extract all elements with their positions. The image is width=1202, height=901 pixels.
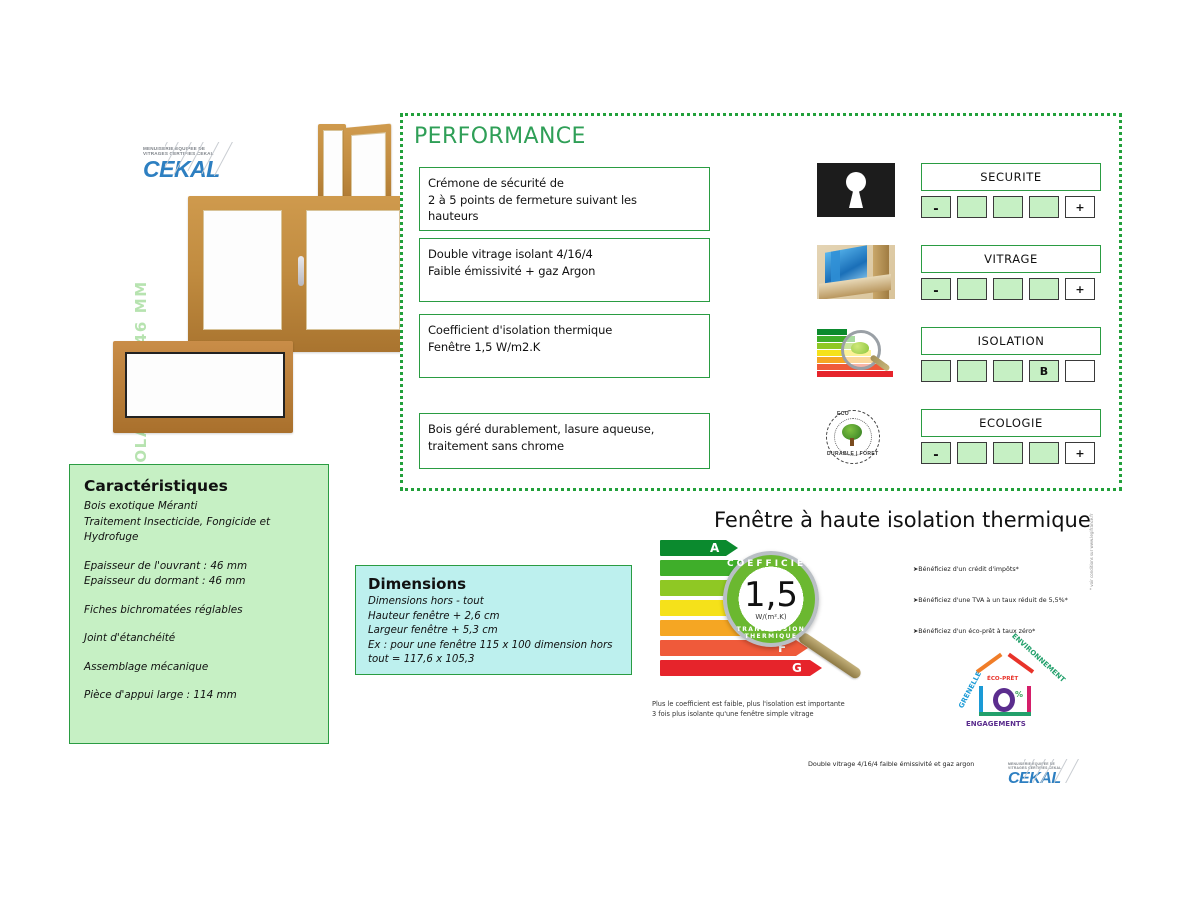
window-photo-transom (113, 341, 293, 433)
rating-cell[interactable] (993, 196, 1023, 218)
energy-bar-label-g: G (792, 661, 802, 675)
coefficient-arc-top: COEFFICIENT (727, 559, 815, 569)
carac-line: Traitement Insecticide, Fongicide et (84, 515, 316, 531)
performance-title: PERFORMANCE (414, 124, 586, 149)
dimensions-line: Hauteur fenêtre + 2,6 cm (368, 610, 621, 625)
glazing-photo-icon (817, 245, 895, 299)
rating-row-isolation: ISOLATION B (817, 327, 895, 381)
carac-line: Joint d'étanchéité (84, 631, 316, 647)
rating-cell[interactable] (957, 278, 987, 300)
benefits-list: ➤Bénéficiez d'un crédit d'impôts* ➤Bénéf… (913, 566, 1098, 659)
grenelle-environnement-logo: ÉCO-PRÊT % GRENELLE ENVIRONNEMENT ENGAGE… (946, 652, 1066, 738)
rating-cell-plus[interactable]: + (1065, 196, 1095, 218)
rating-cell-grade-b[interactable]: B (1029, 360, 1059, 382)
eco-pret-label: ÉCO-PRÊT (987, 676, 1018, 682)
dimensions-line: tout = 117,6 x 105,3 (368, 653, 621, 668)
performance-feature-box-1: Double vitrage isolant 4/16/4 Faible émi… (419, 238, 710, 302)
carac-line: Epaisseur du dormant : 46 mm (84, 574, 316, 590)
rating-label-isolation: ISOLATION (921, 327, 1101, 355)
rating-label-ecologie: ECOLOGIE (921, 409, 1101, 437)
rating-row-vitrage: VITRAGE - + (817, 245, 895, 299)
cekal-logo-bottom: MENUISERIE EQUIPEE DE VITRAGES CERTIFIES… (1008, 762, 1061, 787)
rating-cell-plus[interactable]: + (1065, 278, 1095, 300)
energy-caption-line: Plus le coefficient est faible, plus l'i… (652, 700, 845, 710)
rating-cell[interactable] (1029, 278, 1059, 300)
rating-cells-securite: - + (921, 196, 1095, 218)
carac-line: Epaisseur de l'ouvrant : 46 mm (84, 559, 316, 575)
window-photo-double-casement (188, 196, 416, 352)
feature-line: Double vitrage isolant 4/16/4 (428, 246, 701, 263)
performance-feature-box-2: Coefficient d'isolation thermique Fenêtr… (419, 314, 710, 378)
rating-cell[interactable] (993, 360, 1023, 382)
coefficient-unit: W/(m².K) (727, 613, 815, 621)
grenelle-word-bottom: ENGAGEMENTS (966, 720, 1026, 728)
feature-line: Fenêtre 1,5 W/m2.K (428, 339, 701, 356)
rating-cell-minus[interactable]: - (921, 442, 951, 464)
coefficient-value: 1,5 (727, 575, 815, 615)
rating-cell[interactable] (1065, 360, 1095, 382)
coefficient-magnifier: COEFFICIENT 1,5 W/(m².K) TRANSMISSION TH… (723, 551, 819, 647)
eco-tree-stamp-icon: ECODURABLE | FORET (817, 409, 895, 463)
rating-row-securite: SECURITE - + (817, 163, 895, 217)
caracteristiques-panel: Caractéristiques Bois exotique Méranti T… (69, 464, 329, 744)
carac-line: Bois exotique Méranti (84, 499, 316, 515)
rating-cell-minus[interactable]: - (921, 278, 951, 300)
cekal-logo-top: MENUISERIE EQUIPEE DE VITRAGES CERTIFIES… (143, 146, 220, 181)
rating-label-securite: SECURITE (921, 163, 1101, 191)
dimensions-line: Ex : pour une fenêtre 115 x 100 dimensio… (368, 639, 621, 654)
eco-pret-house-icon: ÉCO-PRÊT % (977, 670, 1033, 716)
performance-feature-box-0: Crémone de sécurité de 2 à 5 points de f… (419, 167, 710, 231)
performance-feature-box-3: Bois géré durablement, lasure aqueuse, t… (419, 413, 710, 469)
benefit-item: ➤Bénéficiez d'un éco-prêt à taux zéro* (913, 628, 1098, 635)
energy-bar-label-a: A (710, 541, 719, 555)
dimensions-line: Largeur fenêtre + 5,3 cm (368, 624, 621, 639)
rating-cell[interactable] (957, 196, 987, 218)
carac-line: Hydrofuge (84, 530, 316, 546)
energy-caption: Plus le coefficient est faible, plus l'i… (652, 700, 845, 719)
rating-cell-minus[interactable]: - (921, 196, 951, 218)
rating-cells-isolation: B (921, 360, 1095, 382)
rating-cells-ecologie: - + (921, 442, 1095, 464)
rating-cell[interactable] (957, 360, 987, 382)
dimensions-title: Dimensions (368, 575, 621, 593)
dimensions-panel: Dimensions Dimensions hors - tout Hauteu… (355, 565, 632, 675)
rating-row-ecologie: ECODURABLE | FORET ECOLOGIE - + (817, 409, 895, 463)
caracteristiques-title: Caractéristiques (84, 477, 316, 495)
rating-cell-plus[interactable]: + (1065, 442, 1095, 464)
window-handle-icon (298, 256, 304, 286)
energy-magnifier-icon (817, 327, 895, 381)
thermal-footnote: Double vitrage 4/16/4 faible émissivité … (808, 760, 974, 768)
feature-line: Bois géré durablement, lasure aqueuse, (428, 421, 701, 438)
rating-cells-vitrage: - + (921, 278, 1095, 300)
rating-cell[interactable] (1029, 196, 1059, 218)
benefit-item: ➤Bénéficiez d'une TVA à un taux réduit d… (913, 597, 1098, 604)
cekal-slashes-icon (1024, 759, 1094, 783)
legal-microtext: * voir conditions sur www.legifrance.fr (1089, 514, 1094, 590)
rating-cell[interactable] (1029, 442, 1059, 464)
rating-cell[interactable] (993, 278, 1023, 300)
carac-line: Assemblage mécanique (84, 660, 316, 676)
feature-line: Faible émissivité + gaz Argon (428, 263, 701, 280)
dimensions-line: Dimensions hors - tout (368, 595, 621, 610)
feature-line: 2 à 5 points de fermeture suivant les (428, 192, 701, 209)
poster-page: FENETRES ISOLANTE MT 46 MM MENUISERIE EQ… (0, 0, 1202, 901)
percent-label: % (1015, 690, 1023, 699)
thermal-title: Fenêtre à haute isolation thermique (714, 508, 1091, 532)
keyhole-icon (817, 163, 895, 217)
feature-line: traitement sans chrome (428, 438, 701, 455)
feature-line: Coefficient d'isolation thermique (428, 322, 701, 339)
benefit-item: ➤Bénéficiez d'un crédit d'impôts* (913, 566, 1098, 573)
coefficient-arc-bottom: TRANSMISSION THERMIQUE (727, 626, 815, 640)
rating-cell[interactable] (957, 442, 987, 464)
feature-line: hauteurs (428, 208, 701, 225)
carac-line: Fiches bichromatées réglables (84, 603, 316, 619)
carac-line: Pièce d'appui large : 114 mm (84, 688, 316, 704)
rating-cell[interactable] (921, 360, 951, 382)
feature-line: Crémone de sécurité de (428, 175, 701, 192)
energy-caption-line: 3 fois plus isolante qu'une fenêtre simp… (652, 710, 845, 720)
rating-label-vitrage: VITRAGE (921, 245, 1101, 273)
cekal-slashes-icon (165, 142, 261, 176)
rating-cell[interactable] (993, 442, 1023, 464)
